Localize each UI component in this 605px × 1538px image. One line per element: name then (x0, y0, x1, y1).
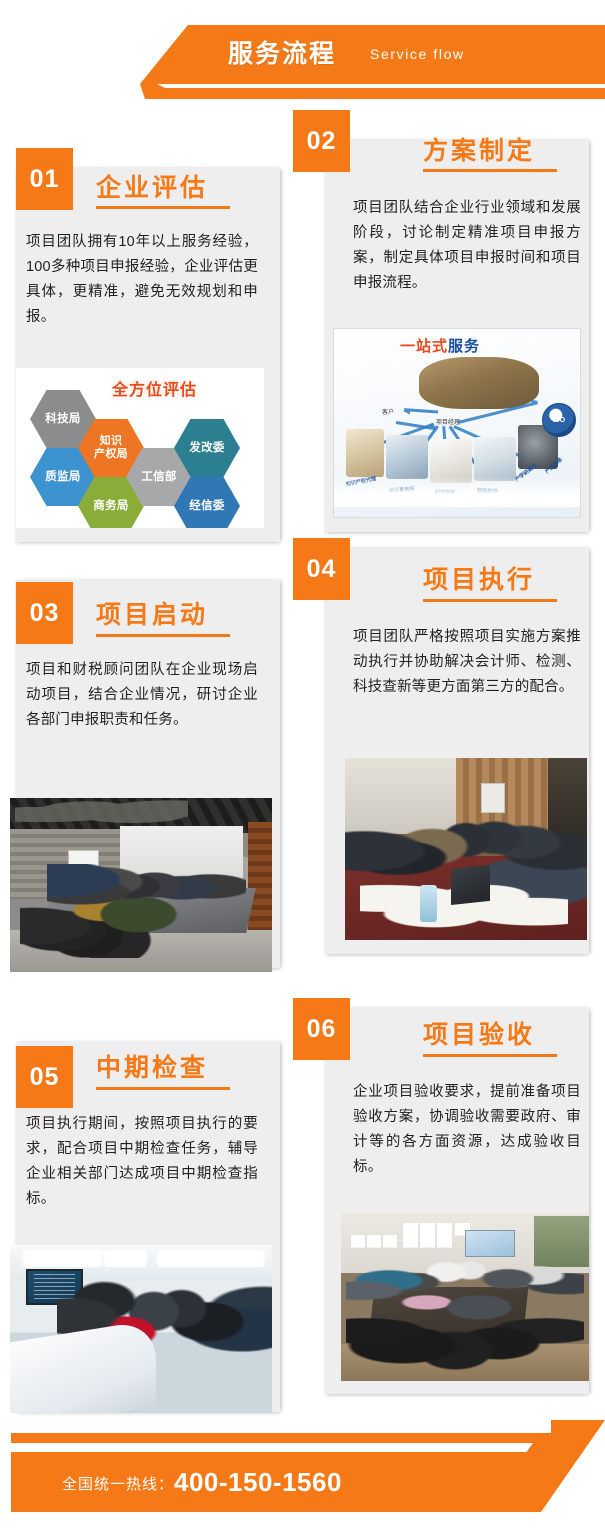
infographic-page: 服务流程 Service flow 01 企业评估 项目团队拥有10年以上服务经… (0, 0, 605, 1538)
photo-ceiling-lights (10, 1250, 272, 1267)
one-stop-title-part2: 服务 (448, 338, 480, 355)
header-accent-bar (155, 88, 605, 99)
one-stop-floor-gradient (333, 477, 581, 507)
one-stop-node-manager: 项目经理 (436, 417, 460, 426)
step-title-underline-03 (96, 634, 230, 637)
page-title: 服务流程 (228, 34, 336, 74)
hexagon-label: 质监局 (45, 470, 80, 484)
hotline-label: 全国统一热线： (62, 1476, 174, 1493)
step-photo-06 (341, 1213, 589, 1381)
photo-attendees (346, 1257, 584, 1341)
one-stop-arrow-to-customer (404, 409, 438, 414)
photo-ac-unit (481, 783, 505, 812)
step-body-05: 项目执行期间，按照项目执行的要求，配合项目中期检查任务，辅导企业相关部门达成项目… (26, 1112, 258, 1212)
hexagon-label: 发改委 (189, 441, 224, 455)
step-number-badge-06: 06 (293, 998, 350, 1060)
step-title-underline-02 (423, 169, 557, 172)
step-body-01: 项目团队拥有10年以上服务经验，100多种项目申报经验，企业评估更具体，更精准，… (26, 230, 258, 330)
step-photo-03 (10, 798, 272, 972)
hexagon-label: 经信委 (189, 499, 224, 513)
step-body-02: 项目团队结合企业行业领域和发展阶段，讨论制定精准项目申报方案，制定具体项目申报时… (353, 196, 581, 296)
step-photo-04 (345, 758, 587, 940)
photo-laptop (451, 865, 490, 905)
step-title-05: 中期检查 (96, 1048, 208, 1084)
hexagon-label: 科技局 (45, 412, 80, 426)
hexagon-label: 商务局 (93, 499, 128, 513)
step-title-underline-04 (423, 599, 557, 602)
one-stop-photo-accounting (386, 435, 428, 479)
step-title-03: 项目启动 (96, 595, 208, 631)
step-body-04: 项目团队严格按照项目实施方案推动执行并协助解决会计师、检测、科技查新等更方面第三… (353, 625, 581, 700)
page-header: 服务流程 Service flow (0, 0, 605, 118)
page-subtitle: Service flow (370, 43, 465, 65)
step-title-underline-05 (96, 1087, 230, 1090)
step-body-03: 项目和财税顾问团队在企业现场启动项目，结合企业情况，研讨企业各部门申报职责和任务… (26, 658, 258, 733)
photo-reception-counter (10, 1319, 157, 1413)
one-stop-photo-ip-agency (346, 429, 384, 477)
step-title-underline-06 (423, 1054, 557, 1057)
step-number-badge-01: 01 (16, 148, 73, 210)
one-stop-photo-inspection (474, 437, 516, 481)
assessment-hexagon-figure: 全方位评估 科技局 质监局 知识 产权局 商务局 工信部 发改委 经信委 (16, 368, 264, 528)
hexagon-label: 工信部 (141, 470, 176, 484)
step-title-06: 项目验收 (423, 1015, 535, 1051)
photo-people (47, 864, 246, 934)
hotline-phone[interactable]: 400-150-1560 (174, 1467, 342, 1497)
step-title-01: 企业评估 (96, 168, 208, 204)
step-title-underline-01 (96, 206, 230, 209)
step-photo-05 (10, 1245, 272, 1413)
step-title-02: 方案制定 (423, 131, 535, 167)
one-stop-team-photo (419, 357, 539, 409)
hotline-block: 全国统一热线：400-150-1560 (62, 1465, 342, 1502)
step-number-badge-04: 04 (293, 538, 350, 600)
hexagon-label: 知识 产权局 (94, 435, 128, 461)
photo-water-bottle (420, 885, 437, 921)
one-stop-title: 一站式服务 (400, 335, 480, 356)
step-number-badge-03: 03 (16, 582, 73, 644)
footer-accent-bar (11, 1433, 466, 1443)
one-stop-node-customer: 客户 (382, 407, 394, 416)
step-number-badge-02: 02 (293, 110, 350, 172)
iso-badge-icon: ISO (542, 403, 576, 437)
step-body-06: 企业项目验收要求，提前准备项目验收方案，协调验收需要政府、审计等的各方面资源，达… (353, 1080, 581, 1180)
photo-projector-screen (465, 1230, 515, 1257)
one-stop-service-figure: 一站式服务 客户 项目经理 ISO 知识产权代理 会计事务所 科技查新 检验检测… (333, 328, 581, 518)
hexagon-figure-title: 全方位评估 (112, 376, 197, 400)
step-number-badge-05: 05 (16, 1046, 73, 1108)
page-footer: 全国统一热线：400-150-1560 (0, 1420, 605, 1538)
one-stop-title-part1: 一站式 (400, 338, 448, 355)
photo-wood-panel (248, 822, 272, 930)
step-title-04: 项目执行 (423, 560, 535, 596)
